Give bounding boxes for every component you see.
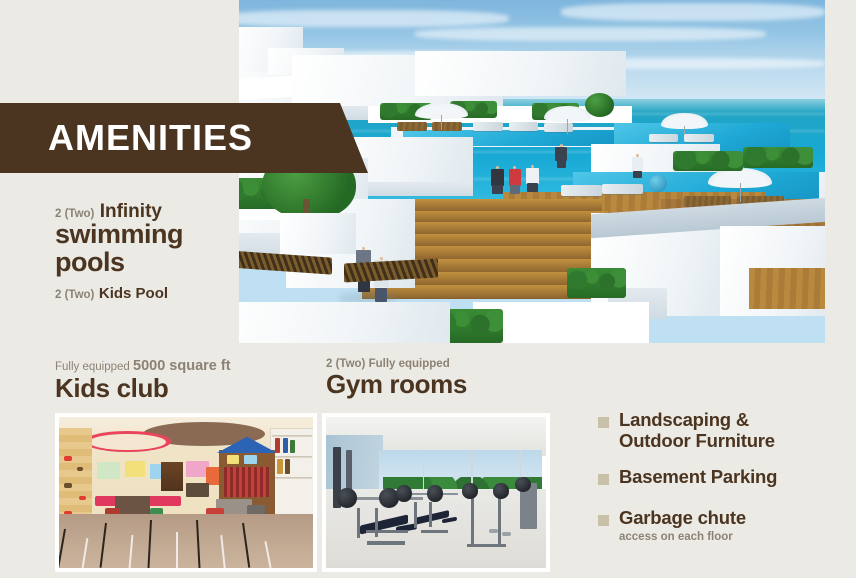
- kids-club-area: 5000 square ft: [133, 358, 231, 374]
- pools-headline-line2: swimming: [55, 221, 240, 249]
- kids-pool-count: 2 (Two): [55, 289, 94, 301]
- kids-club-image: [55, 413, 317, 572]
- page-title: AMENITIES: [48, 120, 253, 156]
- pools-count-label: 2 (Two): [55, 208, 94, 220]
- person-figure: [509, 166, 522, 193]
- bullet-square-icon: [598, 515, 609, 526]
- amenities-banner: AMENITIES: [0, 103, 368, 173]
- amenities-bullet-list: Landscaping & Outdoor Furniture Basement…: [598, 410, 848, 559]
- kids-pool-row: 2 (Two) Kids Pool: [55, 285, 240, 303]
- weight-bench: [410, 502, 467, 538]
- kids-club-kicker: Fully equipped 5000 square ft: [55, 358, 325, 374]
- amenities-slide: AMENITIES 2 (Two) Infinity swimming pool…: [0, 0, 856, 578]
- person-figure: [491, 166, 504, 193]
- list-item: Basement Parking: [598, 467, 848, 488]
- bullet-square-icon: [598, 474, 609, 485]
- person-figure: [526, 165, 539, 192]
- kids-club-kicker-prefix: Fully equipped: [55, 361, 130, 373]
- gym-title: Gym rooms: [326, 371, 556, 398]
- gym-text-block: 2 (Two) Fully equipped Gym rooms: [326, 358, 556, 398]
- kids-club-text-block: Fully equipped 5000 square ft Kids club: [55, 358, 325, 402]
- beach-ball: [649, 175, 667, 192]
- pools-text-block: 2 (Two) Infinity swimming pools 2 (Two) …: [55, 202, 240, 303]
- bullet-text-line2: Outdoor Furniture: [619, 431, 775, 452]
- person-figure: [632, 154, 644, 178]
- bullet-subtext: access on each floor: [619, 531, 746, 543]
- bullet-text-line1: Basement Parking: [619, 467, 777, 488]
- bullet-square-icon: [598, 417, 609, 428]
- person-figure: [555, 144, 567, 168]
- list-item: Landscaping & Outdoor Furniture: [598, 410, 848, 451]
- pools-headline-line3: pools: [55, 249, 240, 277]
- list-item: Garbage chute access on each floor: [598, 508, 848, 543]
- gym-image: [322, 413, 550, 572]
- kids-club-title: Kids club: [55, 375, 325, 402]
- bullet-text-line1: Landscaping &: [619, 410, 775, 431]
- kids-pool-label: Kids Pool: [99, 285, 168, 302]
- bullet-text-line1: Garbage chute: [619, 508, 746, 529]
